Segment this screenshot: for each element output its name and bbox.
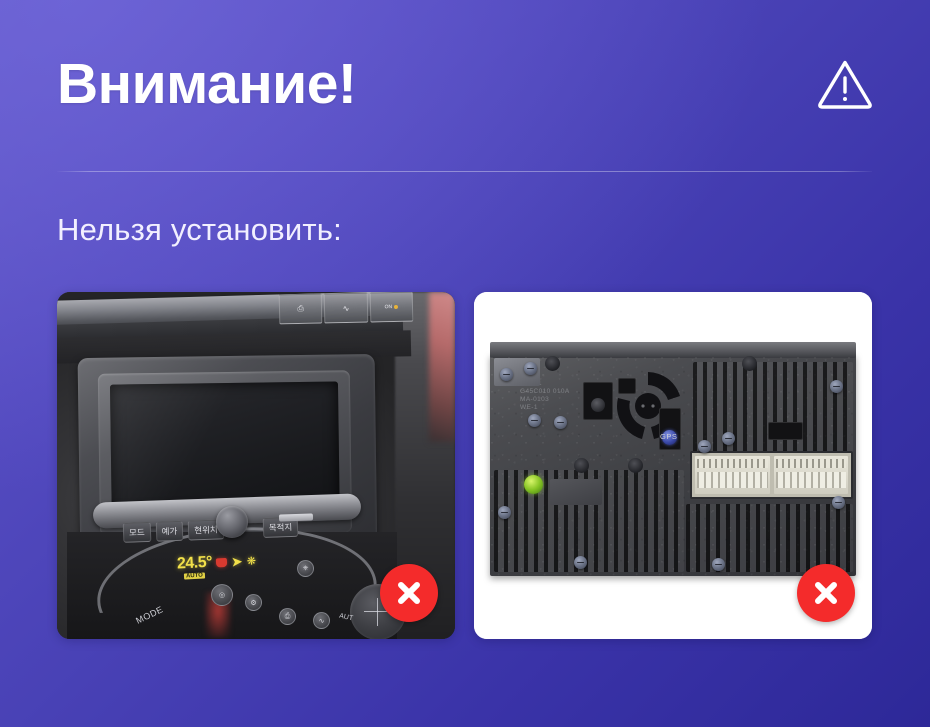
cross-icon [394,578,424,608]
dashboard-red-reflection [429,292,455,442]
photo-cards: ⎙ ∿ ON 모드 예가 현위치 목적지 [57,292,873,639]
screw-mid-left-a [528,414,541,427]
chassis-plate [550,479,602,505]
green-led [524,475,543,494]
climate-knob-right: ⎙ [279,608,296,625]
defrost-button-strip: ⎙ ∿ ON [279,292,414,324]
head-unit-chassis: WT-B1G45C010 010AMA-0103WE-1 GPS [490,354,856,576]
screw-top-right [830,380,843,393]
iso-power-connector [695,456,770,494]
iso-speaker-connector [774,456,849,494]
heatsink-fins-top-right [693,362,853,454]
climate-center-dial: ◎ [211,584,233,606]
cross-icon [811,578,841,608]
warning-triangle-icon [817,57,873,111]
head-unit-volume-knob [216,506,248,538]
screw-near-gps [698,440,711,453]
climate-auto-badge: AUTO [184,572,205,579]
climate-knob-extra: ∿ [313,612,330,629]
recirculation-icon: ON [369,292,413,323]
rear-defrost-icon: ⎙ [279,293,323,324]
card-car-dashboard: ⎙ ∿ ON 모드 예가 현위치 목적지 [57,292,455,639]
card-head-unit-back: WT-B1G45C010 010AMA-0103WE-1 GPS [474,292,872,639]
head-unit-disc-slot [279,513,313,521]
page-title: Внимание! [57,56,356,113]
antenna-jack [591,398,605,412]
climate-airflow-icon: ➤ [231,553,244,571]
head-unit-back-photo: WT-B1G45C010 010AMA-0103WE-1 GPS [474,292,872,639]
climate-fan-icon: ❋ [246,554,256,567]
screw-bottom-right [832,496,845,509]
mounting-hole-right [628,458,643,473]
header-divider [57,171,872,172]
subtitle: Нельзя установить: [57,212,342,248]
car-dashboard-photo: ⎙ ∿ ON 모드 예가 현위치 목적지 [57,292,455,639]
screw-mid-left-b [554,416,567,429]
screw-top-left-b [524,362,537,375]
front-defrost-icon: ∿ [324,293,368,324]
status-badge-not-allowed-right [797,564,855,622]
button-yega-ko: 예가 [155,521,183,542]
screw-bottom-left [498,506,511,519]
mounting-hole-top [545,356,560,371]
screw-bottom-mid [574,556,587,569]
climate-temperature: 24.5° [177,554,213,574]
screw-bottom-right-b [712,558,725,571]
warning-slide: Внимание! Нельзя установить: ⎙ ∿ [0,0,930,727]
climate-knob-left: ⎈ [297,560,314,577]
mounting-hole-left [574,458,589,473]
aux-port [768,422,803,440]
climate-knob-mid: ⚙ [245,594,262,611]
gps-label: GPS [660,432,677,441]
status-badge-not-allowed-left [380,564,438,622]
mounting-hole-top-right [742,356,757,371]
climate-seat-heat-icon [216,557,227,567]
button-mode-ko: 모드 [123,522,151,543]
screw-top-left-a [500,368,513,381]
screw-near-gps-b [722,432,735,445]
heatsink-fins-bottom-right [686,504,853,572]
small-port [618,378,636,394]
slide-header: Внимание! [57,46,873,122]
iso-connector-block [690,451,853,499]
